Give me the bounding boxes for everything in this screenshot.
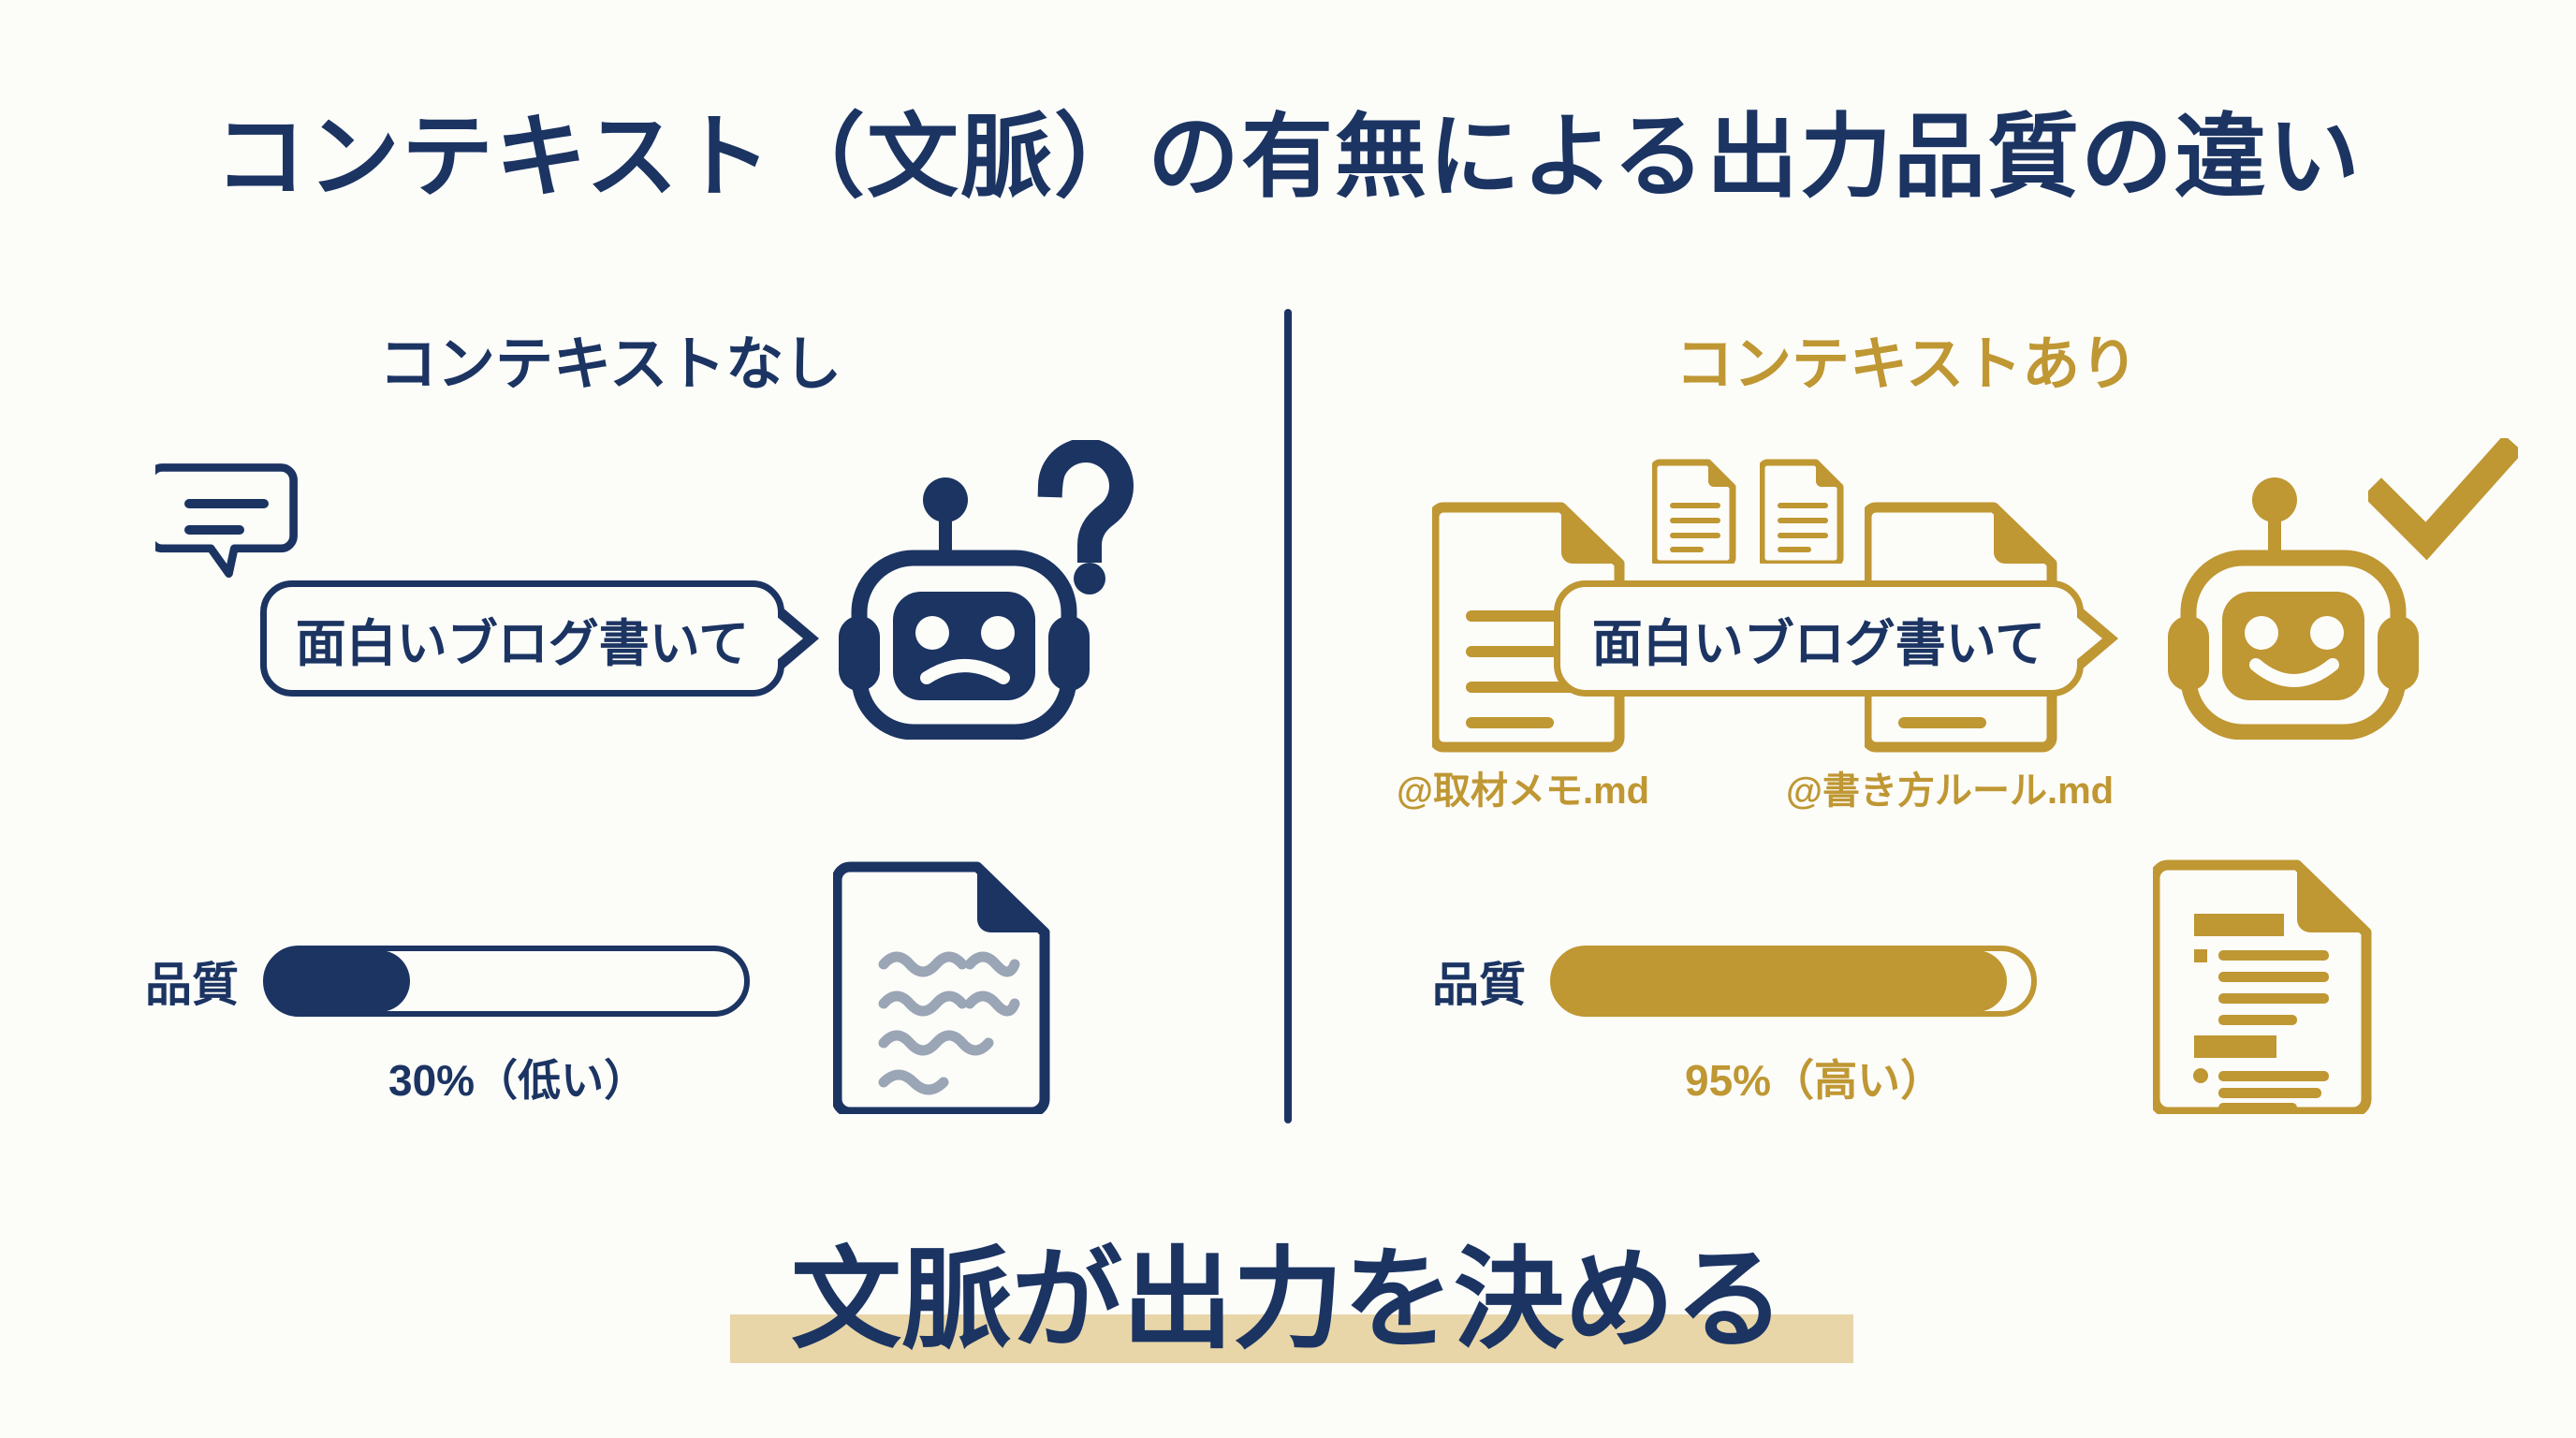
infographic-canvas: コンテキスト（文脈）の有無による出力品質の違い コンテキストなし コンテキストあ… (0, 0, 2576, 1438)
document-scribble-icon (833, 852, 1061, 1119)
right-column-heading: コンテキストあり (1676, 316, 2138, 401)
small-document-1-icon (1652, 457, 1738, 568)
left-quality-value: 30%（低い） (388, 1047, 647, 1108)
left-quality-bar-fill (268, 950, 410, 1012)
right-quality-row: 品質 (1432, 946, 2037, 1017)
left-quality-row: 品質 (145, 946, 750, 1017)
bubble-tail (782, 607, 819, 670)
right-quality-label: 品質 (1432, 947, 1526, 1015)
context-file-label-1: @取材メモ.md (1397, 760, 1649, 814)
page-title: コンテキスト（文脈）の有無による出力品質の違い (0, 82, 2576, 215)
left-column-heading: コンテキストなし (379, 316, 842, 401)
document-structured-icon (2153, 852, 2381, 1119)
chat-bubble-icon (155, 461, 305, 596)
left-prompt-bubble: 面白いブログ書いて (260, 580, 784, 697)
right-quality-value: 95%（高い） (1685, 1047, 1943, 1108)
column-divider (1284, 309, 1292, 1123)
bubble-tail (2081, 607, 2118, 670)
left-quality-bar-track (263, 946, 750, 1017)
right-prompt-bubble: 面白いブログ書いて (1554, 580, 2084, 697)
right-quality-bar-fill (1555, 950, 2007, 1012)
small-document-2-icon (1760, 457, 1846, 568)
context-file-label-2: @書き方ルール.md (1786, 760, 2114, 814)
right-quality-bar-track (1550, 946, 2037, 1017)
left-prompt-text: 面白いブログ書いて (296, 602, 749, 676)
question-mark-icon (1030, 440, 1142, 604)
checkmark-icon (2368, 438, 2518, 565)
right-prompt-text: 面白いブログ書いて (1592, 602, 2045, 676)
footer-banner: 文脈が出力を決める (0, 1206, 2576, 1393)
footer-statement: 文脈が出力を決める (0, 1210, 2576, 1370)
left-quality-label: 品質 (145, 947, 239, 1015)
